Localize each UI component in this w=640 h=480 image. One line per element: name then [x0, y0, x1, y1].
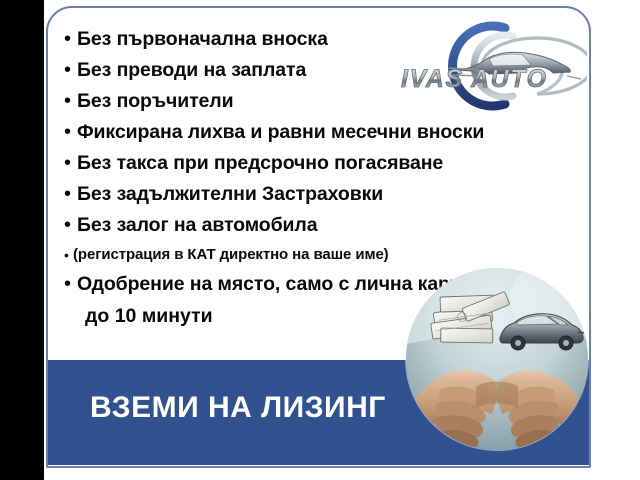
- list-item-label: Без поръчители: [77, 90, 233, 113]
- bullet-icon: •: [64, 273, 77, 296]
- bullet-icon: •: [64, 59, 77, 82]
- advertisement-card: IVAS AUTO • Без първоначална вноска • Бе…: [46, 6, 591, 468]
- list-item: • Без преводи на заплата: [64, 59, 591, 82]
- bullet-icon: •: [64, 90, 77, 113]
- letterbox-bar-left: [0, 0, 44, 480]
- list-item-note-label: (регистрация в КАТ директно на ваше име): [73, 245, 389, 265]
- list-item-label: Без залог на автомобила: [77, 214, 317, 237]
- ad-screenshot: IVAS AUTO • Без първоначална вноска • Бе…: [0, 0, 640, 480]
- hands-money-car-photo: [406, 268, 588, 450]
- list-item-label: Одобрение на място, само с лична карта: [77, 273, 470, 296]
- list-item: • Без първоначална вноска: [64, 28, 591, 51]
- list-item-label: Без преводи на заплата: [77, 59, 306, 82]
- list-item-label: Без първоначална вноска: [77, 28, 328, 51]
- bullet-icon: •: [64, 28, 77, 51]
- cta-label: ВЗЕМИ НА ЛИЗИНГ: [90, 390, 386, 426]
- bullet-icon: •: [64, 152, 77, 175]
- list-item: • Без такса при предсрочно погасяване: [64, 152, 591, 175]
- list-item-label: Без такса при предсрочно погасяване: [77, 152, 443, 175]
- bullet-icon: •: [64, 245, 73, 265]
- list-item-label: Без задължителни Застраховки: [77, 183, 383, 206]
- list-item: • Без задължителни Застраховки: [64, 183, 591, 206]
- bullet-icon: •: [64, 183, 77, 206]
- bullet-icon: •: [64, 121, 77, 144]
- list-item: • Фиксирана лихва и равни месечни вноски: [64, 121, 591, 144]
- list-item: • Без залог на автомобила: [64, 214, 591, 237]
- bullet-icon: •: [64, 214, 77, 237]
- list-item-label: Фиксирана лихва и равни месечни вноски: [77, 121, 484, 144]
- list-item-note: • (регистрация в КАТ директно на ваше им…: [64, 245, 591, 265]
- list-item: • Без поръчители: [64, 90, 591, 113]
